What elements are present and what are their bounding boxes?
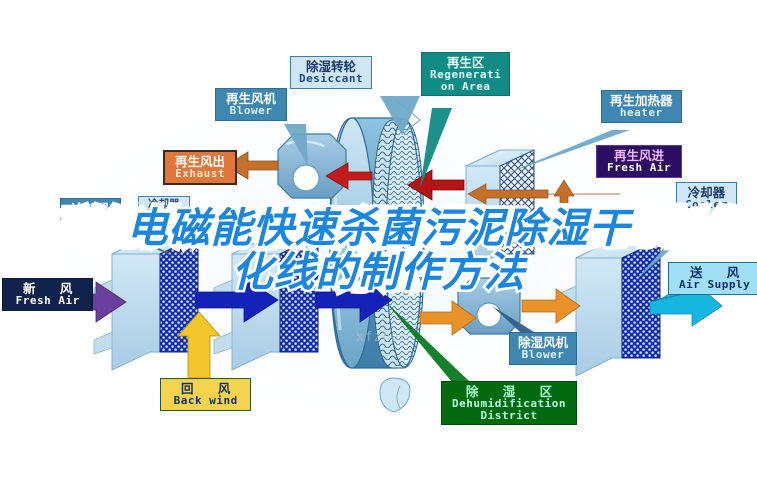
label-regen-exhaust: 再生风出 Exhaust — [163, 150, 237, 185]
headline-line1: 电磁能快速杀菌污泥除湿干 — [0, 206, 757, 250]
label-desiccant-wheel-en: Desiccant — [299, 73, 363, 85]
label-dehum-district: 除 湿 区 Dehumidification District — [441, 381, 577, 425]
label-regen-exhaust-en: Exhaust — [175, 168, 225, 180]
label-desiccant-wheel: 除湿转轮 Desiccant — [290, 56, 372, 89]
headline-line2: 化线的制作方法 — [0, 250, 757, 294]
headline-overlay: 电磁能快速杀菌污泥除湿干 化线的制作方法 — [0, 206, 757, 294]
label-regen-fresh-air-en: Fresh Air — [607, 162, 671, 174]
watermark-text: xfzhan — [356, 330, 409, 345]
dehumidification-system-diagram: xfzhan 除湿转轮 Desiccant 再生风机 Blower 再生风出 E… — [0, 0, 757, 488]
label-regeneration-area: 再生区 Regenerati on Area — [421, 52, 510, 96]
label-dehum-district-en1: Dehumidification — [452, 398, 566, 410]
label-regen-heater-en: heater — [610, 107, 673, 119]
label-regen-fresh-air: 再生风进 Fresh Air — [596, 145, 682, 178]
label-dehum-district-en2: District — [452, 410, 566, 422]
label-dehum-blower-en: Blower — [518, 349, 568, 361]
label-regen-blower: 再生风机 Blower — [215, 88, 287, 121]
label-back-wind: 回 风 Back wind — [160, 378, 251, 411]
label-regen-heater: 再生加热器 heater — [601, 90, 682, 123]
regeneration-blower — [278, 134, 346, 198]
label-fresh-air-in-en: Fresh Air — [13, 295, 82, 307]
label-dehum-blower: 除湿风机 Blower — [509, 332, 577, 365]
label-regen-blower-en: Blower — [226, 105, 276, 117]
label-regeneration-area-en1: Regenerati — [430, 69, 501, 81]
label-regeneration-area-en2: on Area — [430, 81, 501, 93]
label-back-wind-en: Back wind — [171, 395, 240, 407]
